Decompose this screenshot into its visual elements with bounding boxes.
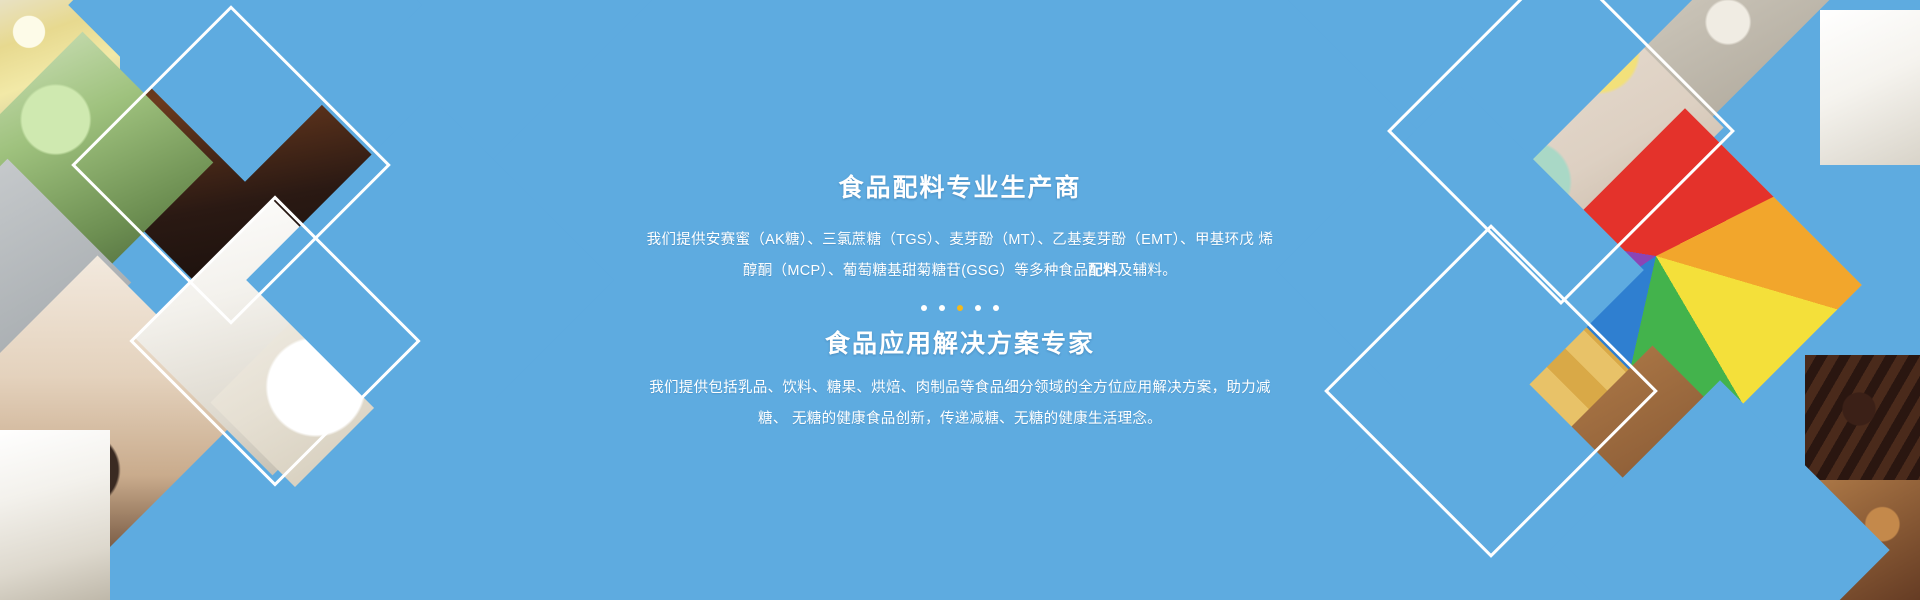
dot-divider bbox=[921, 305, 999, 311]
paragraph-secondary-line-2: 无糖的健康食品创新，传递减糖、无糖的健康生活理念。 bbox=[792, 411, 1162, 427]
tile-dried-dates-photo bbox=[1805, 355, 1920, 490]
tile-nut-bottom-right-photo bbox=[1760, 480, 1920, 600]
paragraph-secondary: 我们提供包括乳品、饮料、糖果、烘焙、肉制品等食品细分领域的全方位应用解决方案，助… bbox=[640, 373, 1280, 435]
tile-cream-pitcher-photo bbox=[1820, 10, 1920, 165]
heading-primary: 食品配料专业生产商 bbox=[838, 173, 1081, 203]
paragraph-primary-emphasis: 配料 bbox=[1088, 263, 1118, 279]
divider-dot-1 bbox=[921, 305, 927, 311]
divider-dot-accent bbox=[957, 305, 963, 311]
banner-content: 食品配料专业生产商 我们提供安赛蜜（AK糖）、三氯蔗糖（TGS）、麦芽酚（MT）… bbox=[580, 0, 1340, 600]
divider-dot-4 bbox=[975, 305, 981, 311]
divider-dot-5 bbox=[993, 305, 999, 311]
paragraph-primary-line-1: 我们提供安赛蜜（AK糖）、三氯蔗糖（TGS）、麦芽酚（MT）、乙基麦芽酚（EMT… bbox=[647, 232, 1255, 248]
tile-milk-glass-bottom-photo bbox=[0, 430, 110, 600]
paragraph-primary-line-2-suffix: 及辅料。 bbox=[1118, 263, 1177, 279]
divider-dot-2 bbox=[939, 305, 945, 311]
paragraph-primary: 我们提供安赛蜜（AK糖）、三氯蔗糖（TGS）、麦芽酚（MT）、乙基麦芽酚（EMT… bbox=[640, 225, 1280, 287]
heading-secondary: 食品应用解决方案专家 bbox=[825, 329, 1095, 359]
hero-banner: 食品配料专业生产商 我们提供安赛蜜（AK糖）、三氯蔗糖（TGS）、麦芽酚（MT）… bbox=[0, 0, 1920, 600]
